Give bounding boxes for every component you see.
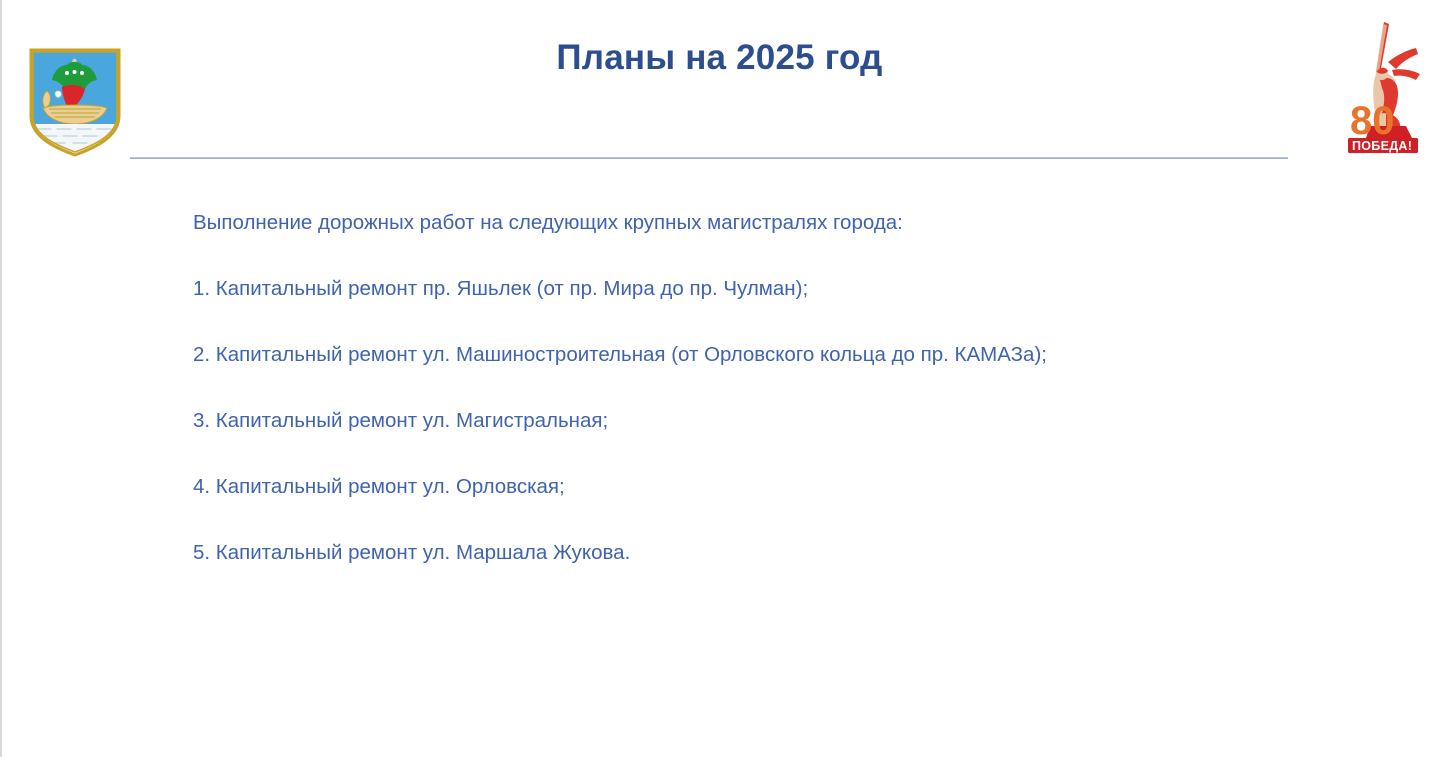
page-title: Планы на 2025 год [152, 38, 1287, 78]
list-item: 4. Капитальный ремонт ул. Орловская; [193, 472, 1163, 502]
title-divider [130, 157, 1288, 159]
slide-header: Планы на 2025 год [2, 0, 1433, 170]
victory-banner-text: ПОБЕДА! [1352, 139, 1412, 153]
coat-of-arms-icon [27, 48, 123, 158]
presentation-slide: Планы на 2025 год [0, 0, 1433, 757]
slide-body: Выполнение дорожных работ на следующих к… [193, 208, 1203, 568]
list-item: 3. Капитальный ремонт ул. Магистральная; [193, 406, 1163, 436]
list-item: 2. Капитальный ремонт ул. Машиностроител… [193, 340, 1156, 370]
list-item: 5. Капитальный ремонт ул. Маршала Жукова… [193, 538, 1163, 568]
body-intro-line: Выполнение дорожных работ на следующих к… [193, 208, 1163, 238]
victory-80-logo-icon: 80 ПОБЕДА! [1336, 14, 1428, 159]
list-item: 1. Капитальный ремонт пр. Яшьлек (от пр.… [193, 274, 1163, 304]
victory-number-text: 80 [1350, 99, 1395, 143]
